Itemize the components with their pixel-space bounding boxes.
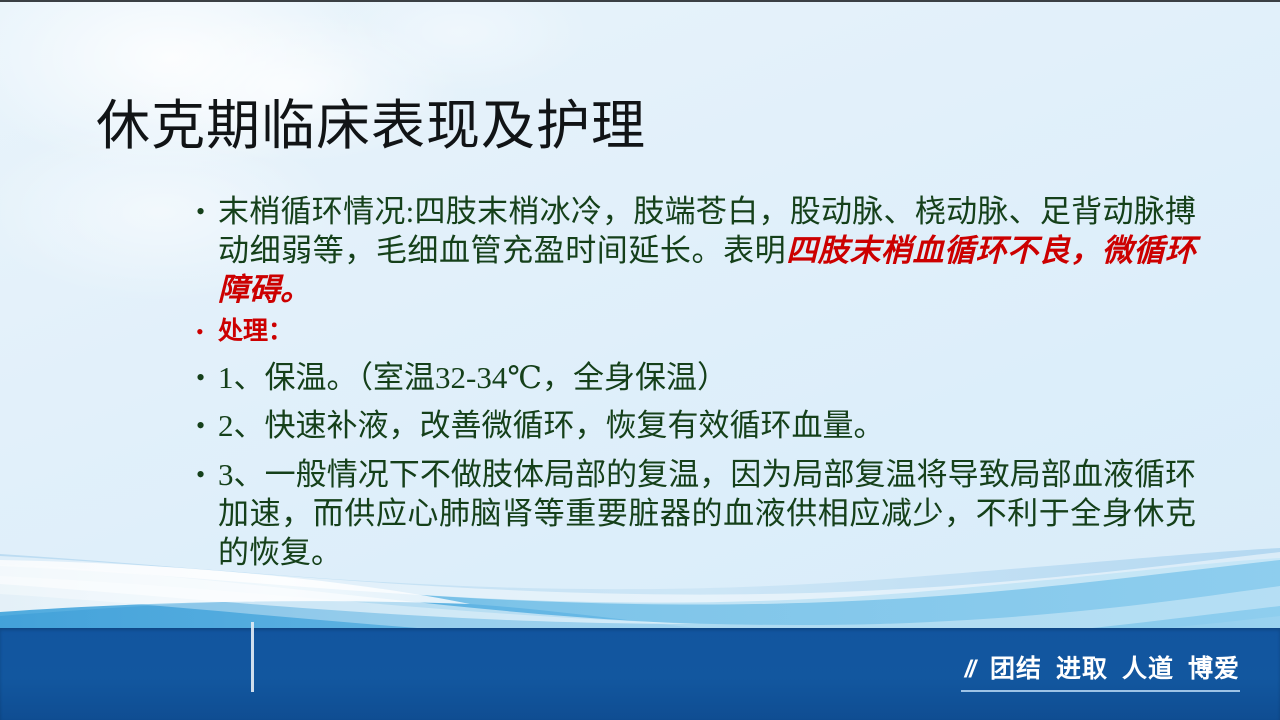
slogan-word: 博爱 (1188, 649, 1240, 685)
footer-slogan: // 团结 进取 人道 博爱 (961, 649, 1240, 692)
slide-title: 休克期临床表现及护理 (96, 98, 646, 155)
slide-body: • 末梢循环情况:四肢末梢冰冷，肢端苍白，股动脉、桡动脉、足背动脉搏动细弱等，毛… (196, 192, 1196, 574)
bullet-marker-icon: • (196, 358, 218, 397)
bullet-item-measure-3: • 3、一般情况下不做肢体局部的复温，因为局部复温将导致局部血液循环加速，而供应… (196, 455, 1196, 572)
bullet-item-treatment-heading: • 处理： (196, 315, 1196, 349)
bullet-marker-icon: • (196, 192, 218, 231)
footer-vertical-divider (251, 622, 254, 692)
bullet-text: 3、一般情况下不做肢体局部的复温，因为局部复温将导致局部血液循环加速，而供应心肺… (218, 455, 1196, 572)
slogan-word: 人道 (1122, 649, 1174, 685)
slogan-word: 团结 (990, 649, 1042, 685)
bullet-text: 1、保温。（室温32-34℃，全身保温） (218, 358, 1196, 397)
background-cloud-highlight (330, 0, 590, 92)
bullet-item-peripheral-circulation: • 末梢循环情况:四肢末梢冰冷，肢端苍白，股动脉、桡动脉、足背动脉搏动细弱等，毛… (196, 192, 1196, 309)
slide-canvas: 休克期临床表现及护理 • 末梢循环情况:四肢末梢冰冷，肢端苍白，股动脉、桡动脉、… (0, 0, 1280, 720)
double-slash-icon: // (965, 656, 974, 684)
bullet-item-measure-2: • 2、快速补液，改善微循环，恢复有效循环血量。 (196, 406, 1196, 445)
bullet-text: 处理： (218, 315, 1196, 349)
bullet-marker-icon: • (196, 406, 218, 445)
slogan-word: 进取 (1056, 649, 1108, 685)
bullet-text: 末梢循环情况:四肢末梢冰冷，肢端苍白，股动脉、桡动脉、足背动脉搏动细弱等，毛细血… (218, 192, 1196, 309)
bullet-marker-icon: • (196, 455, 218, 494)
bullet-marker-icon: • (196, 315, 218, 349)
bullet-item-measure-1: • 1、保温。（室温32-34℃，全身保温） (196, 358, 1196, 397)
bullet-text: 2、快速补液，改善微循环，恢复有效循环血量。 (218, 406, 1196, 445)
